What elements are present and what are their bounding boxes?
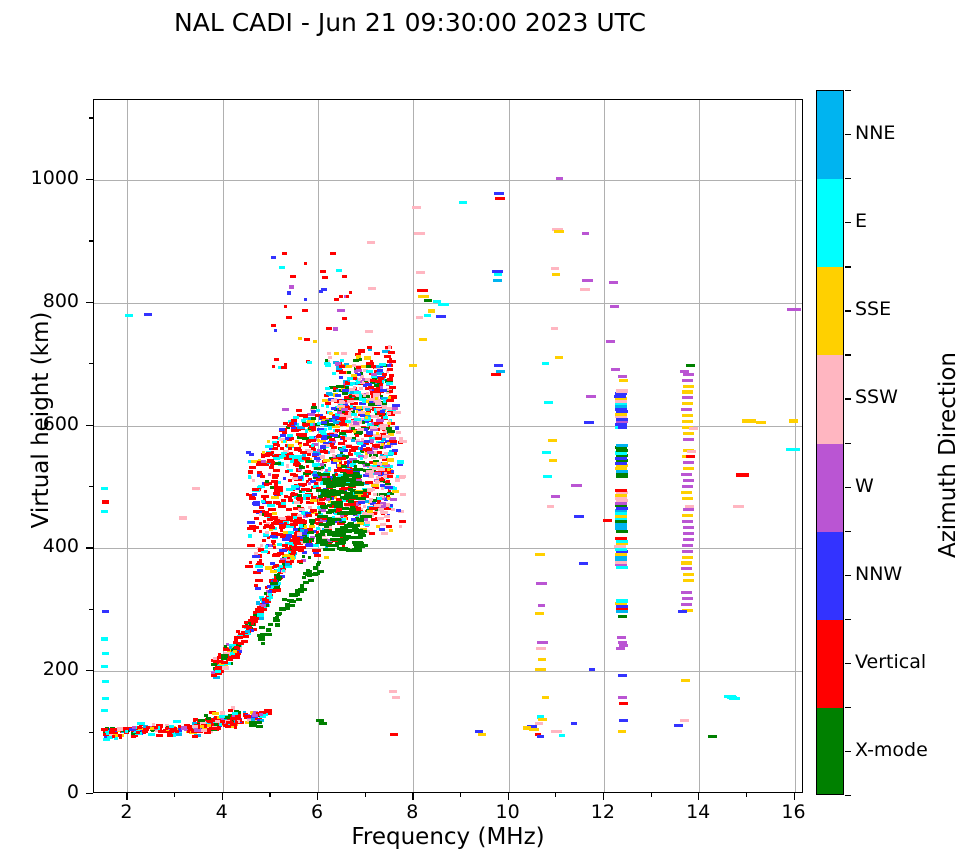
echo-mark [571,722,577,725]
echo-mark [271,540,276,543]
echo-mark [274,329,277,332]
echo-mark [280,492,283,495]
echo-mark [328,509,336,512]
echo-mark [552,273,560,276]
echo-mark [336,389,339,392]
y-axis-minor-tick [89,117,93,118]
echo-mark [326,392,332,395]
echo-mark [264,709,271,712]
echo-mark [302,555,305,558]
echo-mark [306,465,309,468]
x-axis-label: Frequency (MHz) [93,824,803,850]
y-axis-minor-tick [89,486,93,487]
x-axis-tick [794,793,795,800]
echo-mark [535,612,544,615]
echo-mark [683,532,694,535]
echo-mark [367,488,373,491]
echo-mark [227,658,231,661]
echo-mark [207,720,213,723]
colorbar-tick [845,398,851,399]
echo-mark [194,718,198,721]
echo-mark [357,442,363,445]
echo-mark [365,412,370,415]
echo-mark [264,490,267,493]
echo-mark [273,532,278,535]
echo-mark [681,603,692,606]
echo-mark [187,725,191,728]
echo-mark [317,422,321,425]
colorbar-segment-nne[interactable] [817,91,843,179]
echo-mark [349,395,352,398]
echo-mark [273,589,279,592]
echo-mark [247,544,253,547]
echo-mark [358,461,365,464]
echo-mark [681,473,692,476]
echo-mark [229,646,232,649]
colorbar-label-e: E [855,210,867,232]
echo-mark [304,338,310,341]
echo-mark [311,417,316,420]
echo-mark [387,378,393,381]
colorbar-segment-vertical[interactable] [817,620,843,708]
echo-mark [367,423,372,426]
echo-mark [370,426,377,429]
colorbar-segment-w[interactable] [817,444,843,532]
echo-mark [381,532,388,535]
echo-mark [374,352,380,355]
echo-mark [160,730,166,733]
echo-mark [379,363,386,366]
echo-mark [223,724,228,727]
echo-mark [380,427,386,430]
echo-mark [150,727,154,730]
echo-mark [359,482,364,485]
echo-mark [389,374,394,377]
echo-mark [279,560,285,563]
echo-mark [682,396,693,399]
echo-mark [255,565,263,568]
echo-mark [616,444,628,447]
echo-mark [618,615,627,618]
echo-mark [257,569,263,572]
echo-mark [308,579,314,582]
echo-mark [312,453,319,456]
echo-mark [289,600,294,603]
echo-mark [292,540,300,543]
echo-mark [273,469,280,472]
gridline-vertical [509,100,510,792]
echo-mark [276,612,281,615]
echo-mark [142,730,148,733]
echo-mark [399,520,406,523]
echo-mark [284,522,287,525]
echo-mark [329,412,333,415]
echo-mark [317,439,320,442]
echo-mark [296,598,302,601]
echo-mark [618,375,627,378]
colorbar-boundary-tick [845,178,851,179]
echo-mark [234,726,237,729]
y-axis-tick-label: 0 [9,781,79,803]
colorbar-label-vertical: Vertical [855,651,926,673]
echo-mark [290,518,293,521]
echo-mark [555,356,563,359]
echo-mark [254,552,258,555]
echo-mark [370,360,373,363]
echo-mark [494,273,502,276]
echo-mark [224,645,227,648]
echo-mark [259,617,264,620]
echo-mark [349,495,356,498]
echo-mark [346,445,352,448]
echo-mark [309,426,316,429]
echo-mark [252,488,259,491]
echo-mark [374,472,381,475]
echo-mark [324,556,329,559]
echo-mark [283,440,286,443]
echo-mark [682,556,693,559]
echo-mark [321,288,327,291]
echo-mark [554,230,564,233]
echo-mark [101,728,108,731]
echo-mark [346,365,352,368]
x-axis-tick [412,793,413,800]
echo-mark [336,269,342,272]
y-axis-minor-tick [89,363,93,364]
echo-mark [244,715,251,718]
echo-mark [339,295,343,298]
echo-mark [351,413,357,416]
echo-mark [396,431,401,434]
echo-mark [399,525,402,528]
echo-mark [254,517,259,520]
echo-mark [259,713,263,716]
echo-mark [364,356,371,359]
echo-mark [335,473,338,476]
y-axis-tick [86,425,93,426]
echo-mark [256,526,259,529]
echo-mark [324,451,328,454]
gridline-vertical [413,100,414,792]
echo-mark [292,477,298,480]
echo-mark [385,486,393,489]
colorbar[interactable] [816,90,844,795]
echo-mark [253,510,260,513]
echo-mark [211,727,217,730]
echo-mark [367,432,373,435]
echo-mark [270,562,275,565]
echo-mark [617,636,626,639]
echo-mark [305,429,308,432]
x-axis-minor-tick [460,793,461,797]
echo-mark [304,262,307,265]
echo-mark [248,534,252,537]
echo-mark [380,410,385,413]
echo-mark [265,480,269,483]
echo-mark [619,719,628,722]
echo-mark [574,515,584,518]
echo-mark [536,582,547,585]
echo-mark [325,402,331,405]
echo-mark [179,516,187,519]
echo-mark [395,426,399,429]
echo-mark [358,534,366,537]
echo-mark [303,488,310,491]
echo-mark [542,696,549,699]
x-axis-minor-tick [174,793,175,797]
echo-mark [261,455,265,458]
echo-mark [787,308,801,311]
echo-mark [246,493,249,496]
echo-mark [321,421,327,424]
echo-mark [538,658,546,661]
echo-mark [390,498,397,501]
echo-mark [101,510,108,513]
colorbar-boundary-tick [845,707,851,708]
echo-mark [390,733,398,736]
echo-mark [618,696,627,699]
echo-mark [323,459,330,462]
echo-mark [372,444,377,447]
echo-mark [103,738,110,741]
echo-mark [169,725,174,728]
echo-mark [330,538,339,541]
echo-mark [345,382,350,385]
gridline-vertical [223,100,224,792]
echo-mark [678,610,687,613]
x-axis-tick-label: 10 [478,801,538,823]
echo-mark [273,582,278,585]
echo-mark [213,657,217,660]
echo-mark [272,474,279,477]
echo-mark [267,440,270,443]
colorbar-segment-nnw[interactable] [817,532,843,620]
echo-mark [368,287,376,290]
echo-mark [378,468,385,471]
echo-mark [683,467,694,470]
echo-mark [417,289,428,292]
echo-mark [683,573,694,576]
echo-mark [300,584,304,587]
echo-mark [384,515,390,518]
echo-mark [268,593,272,596]
echo-mark [689,427,698,430]
echo-mark [102,697,109,700]
echo-mark [267,504,275,507]
echo-mark [277,552,284,555]
x-axis-tick [126,793,127,800]
echo-mark [331,407,336,410]
echo-mark [683,461,694,464]
echo-mark [556,177,563,180]
echo-mark [273,619,280,622]
echo-mark [542,362,549,365]
echo-mark [261,633,266,636]
echo-mark [356,431,363,434]
echo-mark [286,508,292,511]
echo-mark [682,544,693,547]
echo-mark [683,432,694,435]
colorbar-segment-e[interactable] [817,179,843,267]
echo-mark [611,368,620,371]
echo-mark [187,730,190,733]
echo-mark [323,548,335,551]
echo-mark [332,416,339,419]
echo-mark [358,378,361,381]
echo-mark [359,358,362,361]
echo-mark [326,485,336,488]
echo-mark [366,370,373,373]
echo-mark [192,725,198,728]
echo-mark [330,449,335,452]
echo-mark [682,402,693,405]
echo-mark [551,267,559,270]
echo-mark [347,400,354,403]
echo-mark [683,579,694,582]
echo-mark [281,366,287,369]
echo-mark [305,470,311,473]
echo-mark [551,327,558,330]
echo-mark [383,399,386,402]
echo-mark [299,444,302,447]
echo-mark [314,549,321,552]
echo-mark [683,385,694,388]
echo-mark [337,411,342,414]
echo-mark [334,298,339,301]
echo-mark [536,647,546,650]
echo-mark [137,726,142,729]
echo-mark [303,414,308,417]
x-axis-minor-tick [269,793,270,797]
echo-mark [681,561,692,564]
echo-mark [344,524,351,527]
plot-area[interactable] [93,99,803,793]
echo-mark [301,546,306,549]
echo-mark [272,512,277,515]
echo-mark [348,536,354,539]
echo-mark [320,530,332,533]
echo-mark [535,668,546,671]
echo-mark [789,419,798,422]
echo-mark [586,395,596,398]
echo-mark [245,565,253,568]
x-axis-tick-label: 12 [573,801,633,823]
echo-mark [386,399,394,402]
colorbar-segment-ssw[interactable] [817,355,843,443]
colorbar-tick [845,751,851,752]
echo-mark [786,448,800,451]
echo-mark [309,525,315,528]
echo-mark [265,445,273,448]
echo-mark [137,722,145,725]
echo-mark [255,579,263,582]
echo-mark [319,430,326,433]
echo-mark [358,501,365,504]
echo-mark [354,491,363,494]
echo-mark [387,364,391,367]
echo-mark [538,604,545,607]
echo-mark [219,715,225,718]
echo-mark [204,714,208,717]
x-axis-minor-tick [651,793,652,797]
colorbar-boundary-tick [845,266,851,267]
echo-mark [303,424,308,427]
echo-mark [606,340,615,343]
y-axis-tick [86,793,93,794]
echo-mark [371,484,379,487]
colorbar-boundary-tick [845,354,851,355]
colorbar-segment-sse[interactable] [817,267,843,355]
echo-mark [389,358,392,361]
echo-mark [683,438,694,441]
echo-mark [682,379,693,382]
echo-mark [325,363,329,366]
echo-mark [256,601,260,604]
echo-mark [337,309,345,312]
echo-mark [156,734,163,737]
y-axis-tick-label: 1000 [9,167,79,189]
echo-mark [313,340,317,343]
echo-mark [194,729,201,732]
echo-mark [330,252,336,255]
echo-mark [682,520,693,523]
echo-mark [102,500,109,503]
echo-mark [261,460,266,463]
x-axis-tick [508,793,509,800]
echo-mark [381,438,385,441]
echo-mark [198,719,205,722]
echo-mark [353,422,359,425]
echo-mark [376,525,380,528]
echo-mark [298,549,304,552]
echo-mark [339,432,346,435]
echo-mark [320,270,326,273]
echo-mark [724,695,736,698]
echo-mark [313,544,319,547]
echo-mark [284,363,287,366]
echo-mark [306,440,311,443]
echo-mark [584,421,594,424]
echo-mark [167,732,172,735]
echo-mark [391,508,395,511]
echo-mark [325,359,328,362]
echo-mark [326,544,335,547]
echo-mark [280,529,283,532]
gridline-vertical [127,100,128,792]
echo-mark [286,488,293,491]
y-axis-minor-tick [89,609,93,610]
echo-mark [289,422,294,425]
echo-mark [325,481,334,484]
echo-mark [233,650,237,653]
echo-mark [615,537,627,540]
echo-mark [349,449,356,452]
echo-mark [392,696,400,699]
echo-mark [248,475,251,478]
gridline-horizontal [94,671,802,672]
echo-mark [335,542,345,545]
echo-mark [397,460,404,463]
colorbar-segment-x-mode[interactable] [817,708,843,795]
echo-mark [314,457,320,460]
echo-mark [428,309,435,312]
echo-mark [559,734,565,737]
echo-mark [304,298,307,301]
echo-mark [683,479,694,482]
echo-mark [112,735,115,738]
echo-mark [687,450,696,453]
echo-mark [412,206,421,209]
